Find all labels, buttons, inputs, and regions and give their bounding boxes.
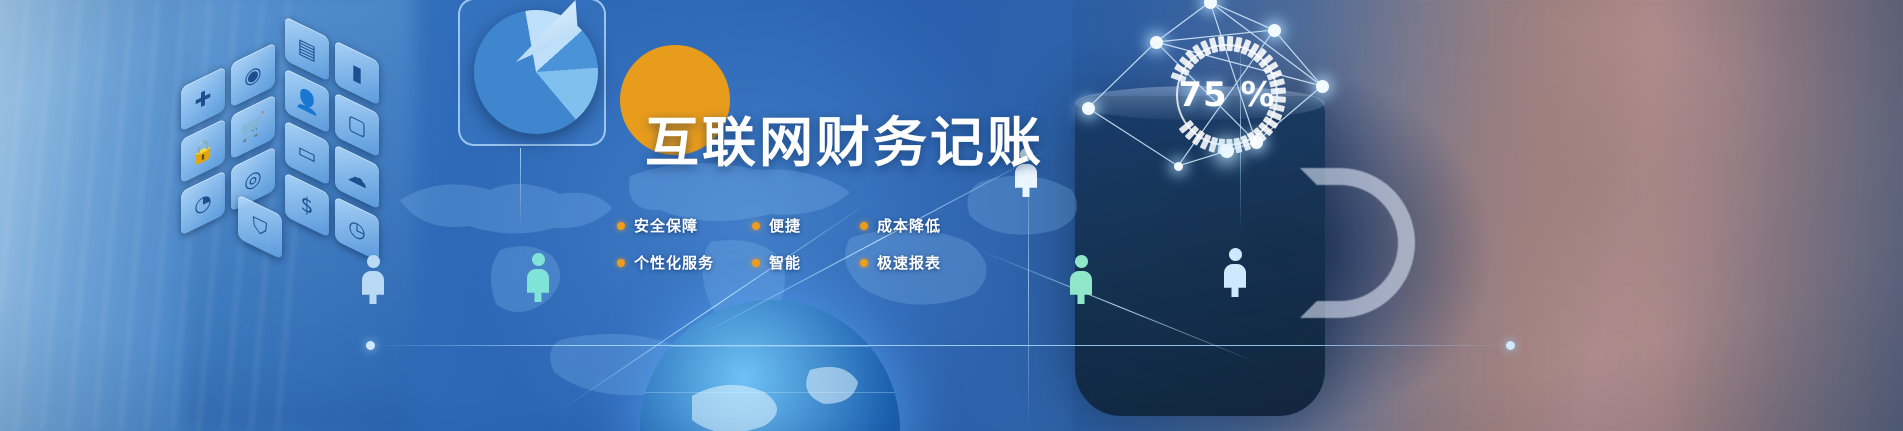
marketing-banner: ✚ ◉ 🔒 🛒 ◔ ◎ ▤ ▮ 👤 ▢ ▭ ☁ $ ⛉ ◷ 75 % — [0, 0, 1903, 431]
background-vignette — [0, 0, 1903, 431]
